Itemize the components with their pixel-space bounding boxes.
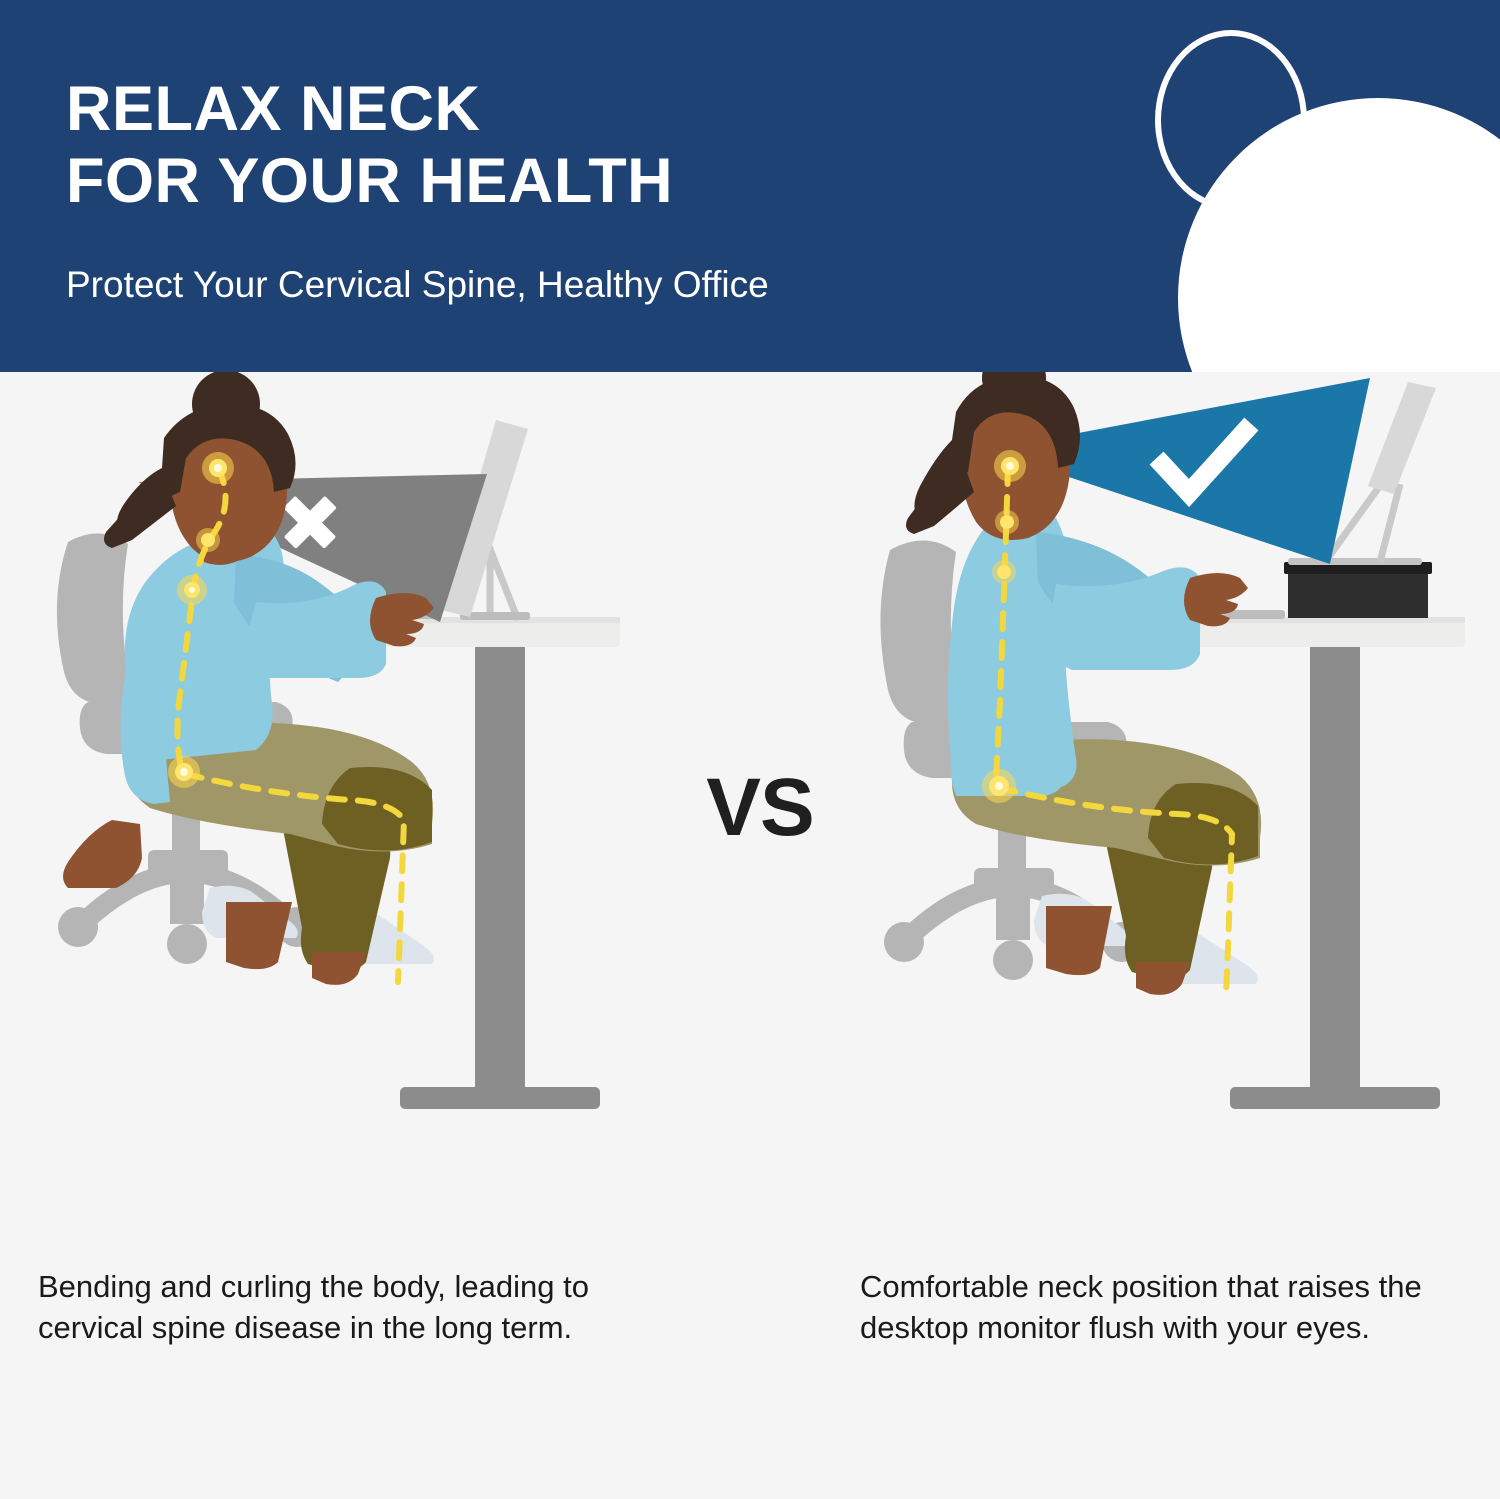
rear-lower-leg-skin	[226, 902, 292, 969]
chair-castor-center-good	[993, 940, 1033, 980]
knee-olive	[322, 767, 432, 851]
comparison-stage: VS	[0, 372, 1500, 1499]
illustration-bad-posture	[20, 372, 740, 1172]
joint-hip	[168, 756, 200, 788]
infographic-page: RELAX NECK FOR YOUR HEALTH Protect Your …	[0, 0, 1500, 1499]
joint-hip-good	[982, 769, 1016, 803]
caption-good-posture: Comfortable neck position that raises th…	[860, 1267, 1500, 1349]
front-ankle-skin	[312, 952, 366, 985]
joint-mid-spine	[177, 575, 207, 605]
riser-body	[1288, 568, 1428, 618]
page-title-line-1: RELAX NECK	[66, 74, 769, 146]
joint-ear-good	[994, 450, 1026, 482]
page-subtitle: Protect Your Cervical Spine, Healthy Off…	[66, 264, 769, 306]
joint-upper-back-good	[992, 560, 1016, 584]
front-ankle-skin-good	[1136, 962, 1190, 995]
chair-base-center-leg-good	[996, 880, 1030, 940]
rear-lower-leg-skin-good	[1046, 906, 1112, 975]
header-text-block: RELAX NECK FOR YOUR HEALTH Protect Your …	[66, 74, 769, 306]
desk-column	[475, 647, 525, 1092]
desk-column-good	[1310, 647, 1360, 1092]
riser-shelf	[1288, 558, 1422, 565]
chair-castor-center	[167, 924, 207, 964]
back-foot	[63, 820, 142, 888]
joint-neck-good	[995, 510, 1019, 534]
monitor-stand-neck	[1380, 484, 1400, 562]
knee-olive-good	[1148, 783, 1258, 865]
header-banner: RELAX NECK FOR YOUR HEALTH Protect Your …	[0, 0, 1500, 372]
decorative-circle-outline	[1155, 30, 1307, 210]
chair-backrest	[57, 533, 132, 704]
joint-neck-top	[202, 452, 234, 484]
chair-castor-left-good	[884, 922, 924, 962]
page-title-line-2: FOR YOUR HEALTH	[66, 146, 769, 218]
panel-good-posture	[860, 372, 1500, 1172]
monitor-riser	[1284, 558, 1432, 618]
chair-castor-left	[58, 907, 98, 947]
hair-bun	[192, 372, 260, 438]
caption-bad-posture: Bending and curling the body, leading to…	[38, 1267, 678, 1349]
illustration-good-posture	[860, 372, 1500, 1172]
chair-base-center-leg	[170, 862, 204, 924]
versus-label: VS	[690, 767, 830, 849]
monitor-screen-raised	[1368, 382, 1436, 494]
panel-bad-posture	[20, 372, 740, 1172]
joint-upper-spine	[196, 528, 220, 552]
